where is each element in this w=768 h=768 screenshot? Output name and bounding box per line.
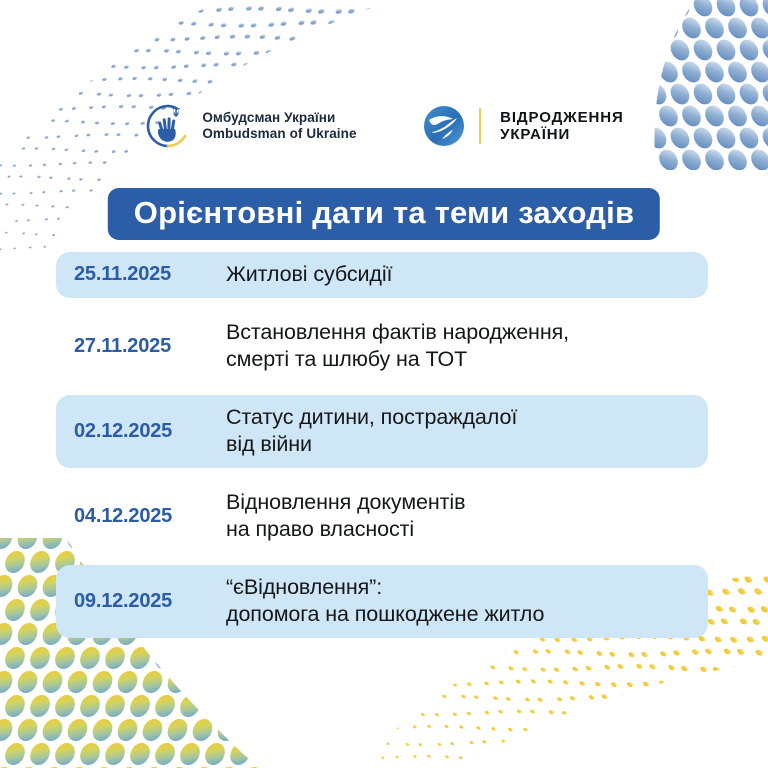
schedule-row-topic: Житлові субсидії (226, 261, 694, 289)
schedule-row-date: 02.12.2025 (74, 420, 226, 443)
schedule-row-topic-line: Статус дитини, постраждалої (226, 404, 694, 432)
schedule-row-date: 04.12.2025 (74, 505, 226, 528)
schedule-row-topic: Статус дитини, постраждалоївід війни (226, 404, 694, 459)
schedule-row-topic-line: Житлові субсидії (226, 261, 694, 289)
vidrodzhennia-logo: ВІДРОДЖЕННЯ УКРАЇНИ (423, 105, 624, 147)
schedule-row-topic: Встановлення фактів народження,смерті та… (226, 319, 694, 374)
vidrodzhennia-logo-line-1: ВІДРОДЖЕННЯ (500, 109, 624, 126)
page-title: Орієнтовні дати та теми заходів (108, 188, 660, 240)
ombudsman-logo-line-en: Ombudsman of Ukraine (202, 126, 356, 142)
ombudsman-logo-text: Омбудсман України Ombudsman of Ukraine (202, 110, 356, 142)
schedule-row: 09.12.2025“єВідновлення”:допомога на пош… (56, 565, 708, 638)
logo-bar: Омбудсман України Ombudsman of Ukraine (0, 96, 768, 156)
schedule-row-topic: Відновлення документівна право власності (226, 489, 694, 544)
schedule-row: 04.12.2025Відновлення документівна право… (56, 480, 708, 553)
schedule-row-topic-line: Відновлення документів (226, 489, 694, 517)
schedule-row-date: 27.11.2025 (74, 335, 226, 358)
schedule-row-date: 09.12.2025 (74, 590, 226, 613)
schedule-row: 25.11.2025Житлові субсидії (56, 252, 708, 298)
logo-divider (479, 108, 482, 144)
ombudsman-logo: Омбудсман України Ombudsman of Ukraine (144, 102, 356, 150)
schedule-row: 27.11.2025Встановлення фактів народження… (56, 310, 708, 383)
vidrodzhennia-logo-text: ВІДРОДЖЕННЯ УКРАЇНИ (500, 109, 624, 143)
ombudsman-logo-line-uk: Омбудсман України (202, 110, 356, 126)
schedule-row-topic-line: від війни (226, 431, 694, 459)
schedule-row-topic-line: на право власності (226, 516, 694, 544)
schedule-row-date: 25.11.2025 (74, 263, 226, 286)
ombudsman-hand-trident-logo-icon (144, 102, 192, 150)
schedule-row-topic-line: допомога на пошкоджене житло (226, 601, 694, 629)
schedule-row-topic-line: Встановлення фактів народження, (226, 319, 694, 347)
schedule-row-topic: “єВідновлення”:допомога на пошкоджене жи… (226, 574, 694, 629)
bird-circle-logo-icon (423, 105, 465, 147)
schedule-row: 02.12.2025Статус дитини, постраждалоївід… (56, 395, 708, 468)
schedule-list: 25.11.2025Житлові субсидії27.11.2025Вста… (56, 252, 708, 650)
vidrodzhennia-logo-line-2: УКРАЇНИ (500, 126, 624, 143)
schedule-row-topic-line: смерті та шлюбу на ТОТ (226, 346, 694, 374)
poster-canvas: Омбудсман України Ombudsman of Ukraine (0, 0, 768, 768)
schedule-row-topic-line: “єВідновлення”: (226, 574, 694, 602)
